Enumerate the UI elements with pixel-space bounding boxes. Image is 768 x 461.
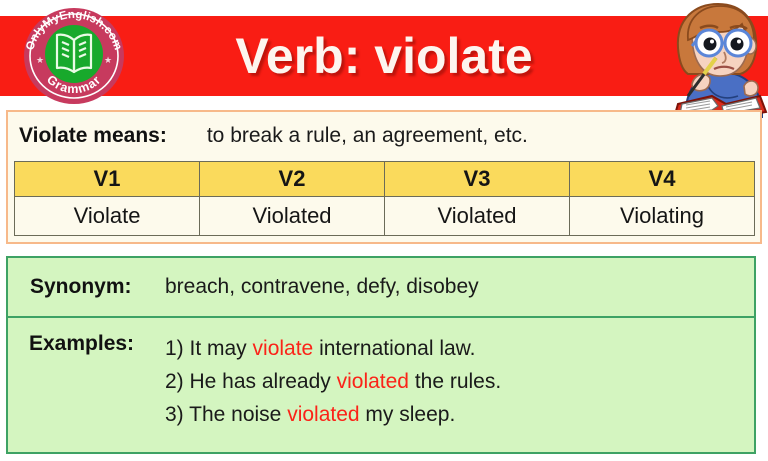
- examples-label: Examples:: [29, 332, 165, 356]
- meaning-row: Violate means: to break a rule, an agree…: [8, 112, 760, 160]
- meaning-label: Violate means:: [19, 124, 167, 148]
- boy-reading-book-icon: [648, 0, 768, 118]
- example-2-suffix: the rules.: [409, 370, 501, 393]
- synonym-label: Synonym:: [30, 275, 165, 299]
- example-1-suffix: international law.: [313, 337, 475, 360]
- examples-list: 1) It may violate international law. 2) …: [165, 332, 501, 431]
- list-item: 3) The noise violated my sleep.: [165, 398, 501, 431]
- meaning-and-forms-panel: Violate means: to break a rule, an agree…: [6, 110, 762, 244]
- cell-v1-value: Violate: [15, 197, 200, 236]
- column-header-v1: V1: [15, 162, 200, 197]
- table-header-row: V1 V2 V3 V4: [15, 162, 755, 197]
- list-item: 1) It may violate international law.: [165, 332, 501, 365]
- table-row: Violate Violated Violated Violating: [15, 197, 755, 236]
- verb-forms-table: V1 V2 V3 V4 Violate Violated Violated Vi…: [14, 161, 755, 236]
- meaning-value: to break a rule, an agreement, etc.: [207, 124, 528, 148]
- svg-text:★: ★: [36, 56, 44, 66]
- example-2-highlight: violated: [337, 370, 409, 393]
- examples-row: Examples: 1) It may violate internationa…: [8, 318, 754, 452]
- column-header-v4: V4: [570, 162, 755, 197]
- example-1-prefix: 1) It may: [165, 337, 253, 360]
- column-header-v2: V2: [200, 162, 385, 197]
- cell-v2-value: Violated: [200, 197, 385, 236]
- example-3-suffix: my sleep.: [360, 403, 456, 426]
- column-header-v3: V3: [385, 162, 570, 197]
- cell-v4-value: Violating: [570, 197, 755, 236]
- synonym-value: breach, contravene, defy, disobey: [165, 275, 479, 299]
- example-3-prefix: 3) The noise: [165, 403, 287, 426]
- example-2-prefix: 2) He has already: [165, 370, 337, 393]
- example-3-highlight: violated: [287, 403, 359, 426]
- page-header: Verb: violate ★ ★ OnlyMyEnglish.com: [0, 0, 768, 110]
- list-item: 2) He has already violated the rules.: [165, 365, 501, 398]
- synonym-and-examples-panel: Synonym: breach, contravene, defy, disob…: [6, 256, 756, 454]
- synonym-row: Synonym: breach, contravene, defy, disob…: [8, 258, 754, 316]
- svg-text:★: ★: [104, 56, 112, 66]
- site-logo[interactable]: ★ ★ OnlyMyEnglish.com Grammar: [22, 6, 126, 106]
- cell-v3-value: Violated: [385, 197, 570, 236]
- example-1-highlight: violate: [253, 337, 314, 360]
